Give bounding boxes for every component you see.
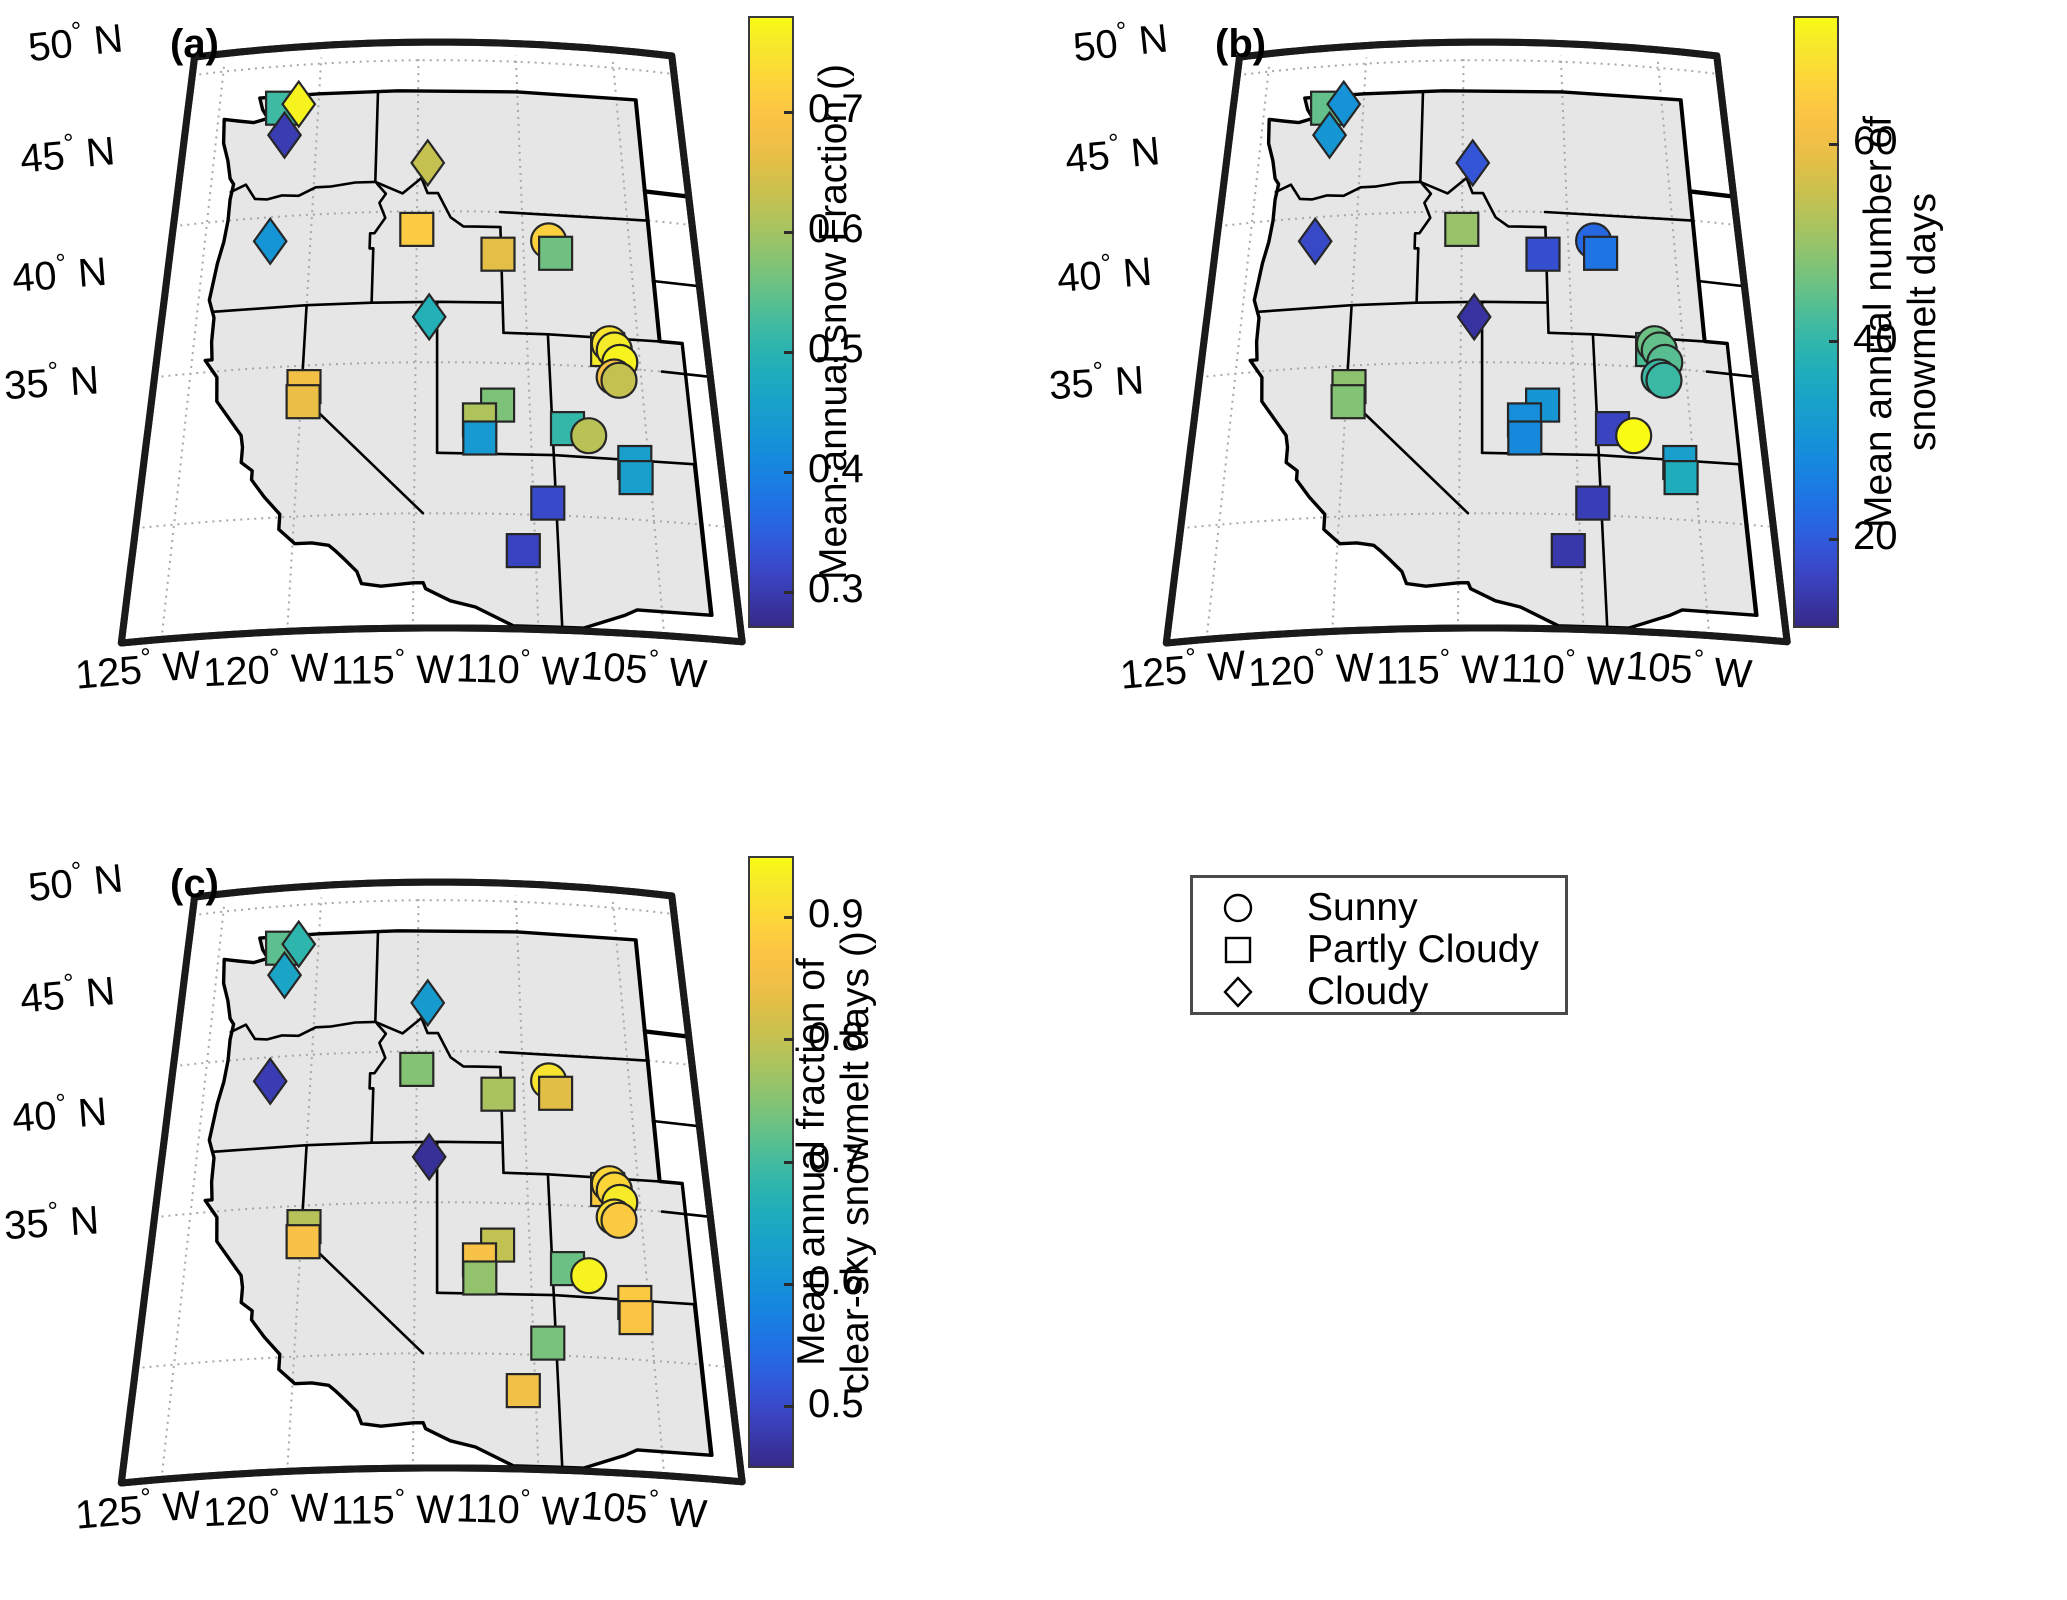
legend-row-sunny: Sunny: [1211, 886, 1418, 930]
station-marker: [1665, 461, 1698, 494]
lat-tick-label: 50° N: [26, 13, 125, 71]
diamond-marker-icon: [1211, 975, 1265, 1009]
lat-tick-label: 40° N: [10, 1086, 108, 1141]
legend-row-cloudy: Cloudy: [1211, 970, 1428, 1014]
colorbar-tick: [784, 351, 794, 354]
lat-tick-label: 50° N: [26, 853, 125, 911]
station-marker: [571, 418, 606, 453]
panel-label-c: (c): [170, 862, 219, 907]
station-marker: [539, 1077, 572, 1110]
station-marker: [1552, 534, 1585, 567]
station-marker: [1647, 363, 1682, 398]
colorbar-tick: [1829, 143, 1839, 146]
station-marker: [1445, 213, 1478, 246]
map-svg-a: [120, 10, 740, 650]
station-marker: [1332, 385, 1365, 418]
legend-label-sunny: Sunny: [1307, 886, 1418, 930]
station-marker: [507, 534, 540, 567]
lon-tick-row: 125° W120° W115° W110° W105° W: [75, 645, 709, 693]
station-marker: [482, 238, 515, 271]
station-marker: [482, 1078, 515, 1111]
lat-tick-label: 35° N: [1048, 355, 1146, 409]
map-b: [1165, 10, 1785, 650]
lon-tick-row: 125° W120° W115° W110° W105° W: [75, 1485, 709, 1533]
station-marker: [463, 422, 496, 455]
station-marker: [539, 237, 572, 270]
colorbar-gradient: [1793, 16, 1839, 628]
panel-a: (a) 50° N45° N40° N35° N125° W120° W115°…: [0, 0, 1020, 760]
panel-c: (c) 50° N45° N40° N35° N125° W120° W115°…: [0, 840, 1020, 1600]
map-group-a: [121, 42, 798, 643]
lat-tick-label: 45° N: [1063, 126, 1162, 183]
lat-tick-label: 45° N: [18, 966, 117, 1023]
station-marker: [463, 1262, 496, 1295]
station-marker: [287, 385, 320, 418]
lat-tick-label: 35° N: [3, 355, 101, 409]
colorbar-tick: [784, 231, 794, 234]
map-a: [120, 10, 740, 650]
legend-label-partly-cloudy: Partly Cloudy: [1307, 928, 1539, 972]
square-marker-icon: [1211, 933, 1265, 967]
station-marker: [571, 1258, 606, 1293]
station-marker: [602, 1203, 637, 1238]
station-marker: [1584, 237, 1617, 270]
map-group-b: [1166, 42, 1843, 643]
colorbar-tick: [784, 111, 794, 114]
lat-tick-label: 40° N: [1055, 246, 1153, 301]
station-marker: [507, 1374, 540, 1407]
station-marker: [620, 1301, 653, 1334]
colorbar-tick: [784, 471, 794, 474]
lat-tick-label: 50° N: [1071, 13, 1170, 71]
map-svg-c: [120, 850, 740, 1490]
station-marker: [620, 461, 653, 494]
circle-marker-icon: [1211, 891, 1265, 925]
panel-b: (b) 50° N45° N40° N35° N125° W120° W115°…: [1045, 0, 2067, 760]
station-marker: [400, 1053, 433, 1086]
lat-tick-label: 45° N: [18, 126, 117, 183]
panel-label-a: (a): [170, 22, 219, 67]
map-svg-b: [1165, 10, 1785, 650]
station-marker: [531, 487, 564, 520]
lat-tick-label: 35° N: [3, 1195, 101, 1249]
station-marker: [531, 1327, 564, 1360]
legend-row-partly-cloudy: Partly Cloudy: [1211, 928, 1539, 972]
legend-label-cloudy: Cloudy: [1307, 970, 1428, 1014]
station-marker: [602, 363, 637, 398]
colorbar-title: Mean annual number ofsnowmelt days: [1857, 16, 1944, 628]
station-marker: [400, 213, 433, 246]
marker-legend: Sunny Partly Cloudy Cloudy: [1190, 875, 1568, 1015]
station-marker: [1527, 238, 1560, 271]
lon-tick-row: 125° W120° W115° W110° W105° W: [1120, 645, 1754, 693]
map-group-c: [121, 882, 798, 1483]
lat-tick-label: 40° N: [10, 246, 108, 301]
colorbar-title: Mean annual snow Fraction (): [812, 16, 856, 628]
colorbar-tick: [1829, 538, 1839, 541]
map-c: [120, 850, 740, 1490]
station-marker: [1616, 418, 1651, 453]
station-marker: [1576, 487, 1609, 520]
colorbar-tick: [1829, 340, 1839, 343]
station-marker: [287, 1225, 320, 1258]
colorbar-title: Mean annual fraction ofclear-sky snowmel…: [790, 856, 877, 1468]
station-marker: [1508, 422, 1541, 455]
colorbar-gradient: [748, 16, 794, 628]
colorbar-tick: [784, 591, 794, 594]
panel-label-b: (b): [1215, 22, 1266, 67]
